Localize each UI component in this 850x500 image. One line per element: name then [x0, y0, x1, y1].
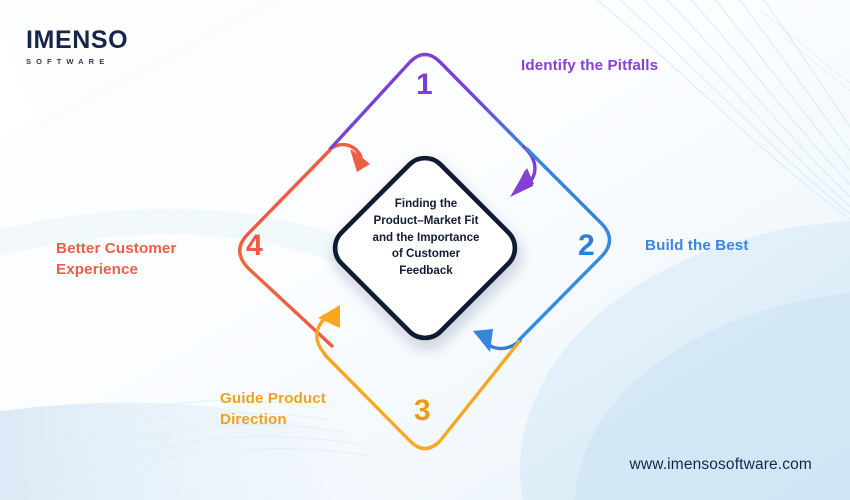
step-label-identify-the-pitfalls: Identify the Pitfalls: [521, 56, 658, 77]
brand-tagline: SOFTWARE: [26, 58, 128, 66]
step-number-4: 4: [246, 231, 263, 261]
step-number-1: 1: [416, 70, 433, 100]
center-diamond-title: Finding the Product–Market Fit and the I…: [336, 196, 516, 280]
step-number-2: 2: [578, 231, 595, 261]
step-label-build-the-best: Build the Best: [645, 236, 749, 257]
step-label-guide-product-direction: Guide Product Direction: [220, 389, 326, 430]
step-label-better-customer-experience: Better Customer Experience: [56, 239, 177, 280]
website-url[interactable]: www.imensosoftware.com: [630, 456, 812, 474]
step-number-3: 3: [414, 396, 431, 426]
brand-name: IMENSO: [26, 28, 128, 53]
brand-logo[interactable]: IMENSO SOFTWARE: [26, 28, 128, 66]
infographic-canvas: IMENSO SOFTWARE Finding the Product–Mark…: [0, 0, 850, 500]
